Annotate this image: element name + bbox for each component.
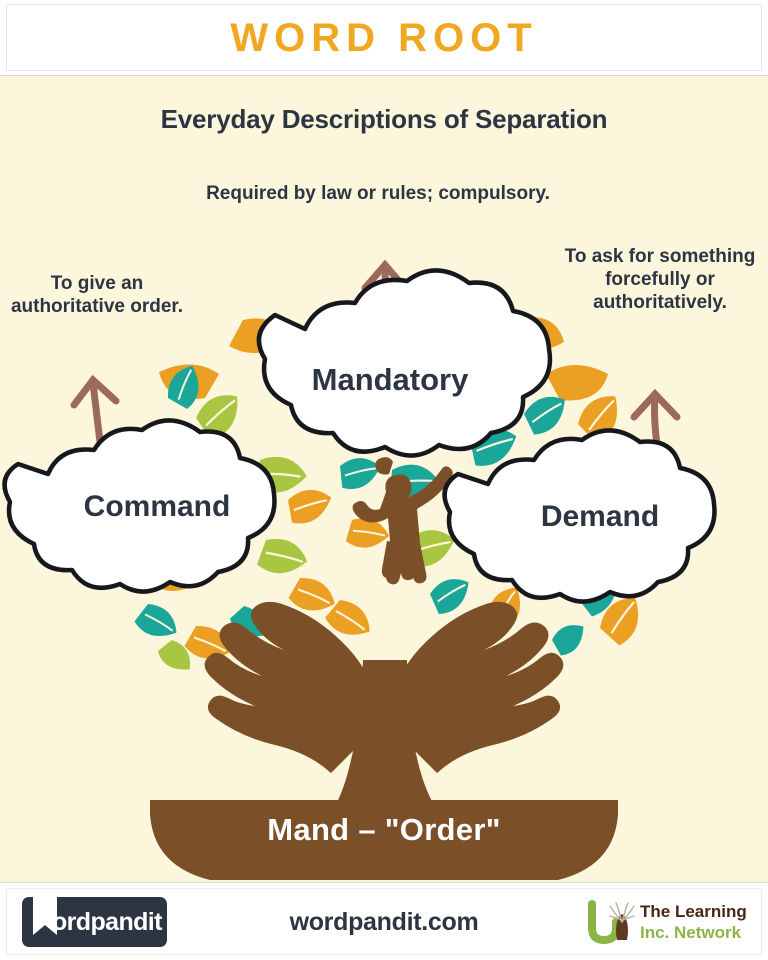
cloud-command bbox=[5, 420, 275, 591]
learning-network-line1: The Learning bbox=[640, 902, 747, 921]
cloud-mandatory bbox=[259, 270, 550, 455]
callout-demand: To ask for something forcefully or autho… bbox=[558, 245, 762, 315]
callout-mandatory: Required by law or rules; compulsory. bbox=[198, 182, 558, 205]
infographic-poster: WORD ROOT Everyday Descriptions of Separ… bbox=[0, 0, 768, 960]
learning-network-logo[interactable]: The Learning Inc. Network bbox=[584, 899, 752, 947]
learning-network-text: The Learning Inc. Network bbox=[640, 902, 747, 944]
root-word-banner: Mand – "Order" bbox=[0, 812, 768, 848]
footer-band: ordpandit wordpandit.com The bbox=[0, 882, 768, 960]
callout-command: To give an authoritative order. bbox=[6, 272, 188, 318]
tree-icon bbox=[584, 900, 638, 946]
learning-network-line2: Inc. Network bbox=[640, 923, 741, 942]
